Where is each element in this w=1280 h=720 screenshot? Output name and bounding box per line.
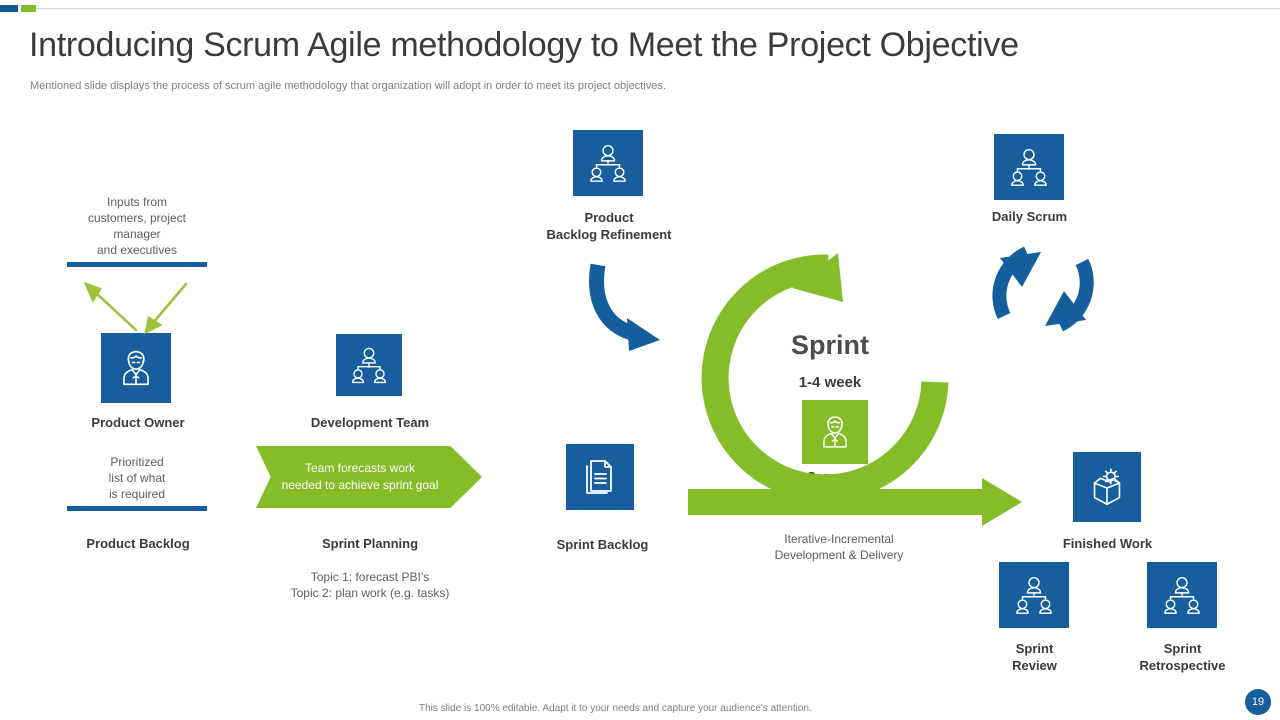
box-gear-icon	[1084, 464, 1130, 510]
inputs-note-line1: Inputs from	[62, 194, 212, 210]
topic-1: Topic 1: forecast PBI’s	[265, 569, 475, 585]
iterative-note: Iterative-Incremental Development & Deli…	[754, 531, 924, 563]
team-group-icon	[347, 345, 391, 385]
prioritized-underline	[67, 506, 207, 511]
sprint-planning-banner[interactable]: Team forecasts work needed to achieve sp…	[256, 446, 482, 508]
sprint-planning-topics: Topic 1: forecast PBI’s Topic 2: plan wo…	[265, 569, 475, 601]
prioritized-note-line2: list of what	[62, 470, 212, 486]
inputs-underline	[67, 262, 207, 267]
daily-scrum-cycle-arrows	[999, 253, 1086, 325]
sprint-backlog-label: Sprint Backlog	[520, 536, 685, 553]
business-person-icon	[113, 345, 159, 391]
sprint-duration: 1-4 week	[745, 374, 915, 391]
development-team-label: Development Team	[285, 414, 455, 431]
sprint-retrospective-icon-tile[interactable]	[1147, 562, 1217, 628]
page-title: Introducing Scrum Agile methodology to M…	[29, 26, 1019, 65]
inputs-note-line2: customers, project	[62, 210, 212, 226]
product-owner-label: Product Owner	[58, 414, 218, 431]
top-accent-bar-green	[21, 5, 36, 12]
iterative-line1: Iterative-Incremental	[754, 531, 924, 547]
documents-icon	[579, 455, 621, 499]
daily-scrum-icon-tile[interactable]	[994, 134, 1064, 200]
topic-2: Topic 2: plan work (e.g. tasks)	[265, 585, 475, 601]
scrum-master-label: Scrum Master	[765, 469, 935, 484]
sprint-review-label: Sprint Review	[957, 640, 1112, 674]
delivery-arrow	[688, 478, 1022, 526]
scrum-master-icon-tile[interactable]	[802, 400, 868, 464]
pbr-line1: Product	[524, 209, 694, 226]
inputs-note: Inputs from customers, project manager a…	[62, 194, 212, 258]
footer-note: This slide is 100% editable. Adapt it to…	[419, 703, 812, 714]
daily-scrum-label: Daily Scrum	[952, 208, 1107, 225]
top-accent-bar-blue	[0, 5, 18, 12]
prioritized-note-line1: Prioritized	[62, 454, 212, 470]
sprint-retrospective-label: Sprint Retrospective	[1105, 640, 1260, 674]
page-number-badge: 19	[1245, 689, 1271, 715]
refinement-curved-arrow	[597, 265, 660, 351]
sprint-review-line2: Review	[957, 657, 1112, 674]
product-backlog-refinement-label: Product Backlog Refinement	[524, 209, 694, 243]
inputs-note-line4: and executives	[62, 242, 212, 258]
pbr-line2: Backlog Refinement	[524, 226, 694, 243]
product-backlog-label: Product Backlog	[58, 535, 218, 552]
sprint-review-line1: Sprint	[957, 640, 1112, 657]
arrow-overlay	[0, 0, 1280, 720]
sprint-backlog-icon-tile[interactable]	[566, 444, 634, 510]
team-group-icon	[1159, 574, 1205, 616]
sprint-planning-label: Sprint Planning	[285, 535, 455, 552]
finished-work-icon-tile[interactable]	[1073, 452, 1141, 522]
sprint-retro-line2: Retrospective	[1105, 657, 1260, 674]
team-group-icon	[1006, 146, 1052, 188]
chevron-line1: Team forecasts work	[282, 460, 439, 477]
sprint-retro-line1: Sprint	[1105, 640, 1260, 657]
finished-work-label: Finished Work	[1030, 535, 1185, 552]
top-divider-rule	[36, 8, 1280, 9]
product-owner-icon-tile[interactable]	[101, 333, 171, 403]
input-arrow-left	[86, 284, 136, 330]
product-backlog-refinement-icon-tile[interactable]	[573, 130, 643, 196]
sprint-review-icon-tile[interactable]	[999, 562, 1069, 628]
chevron-line2: needed to achieve sprint goal	[282, 477, 439, 494]
daily-scrum-arrowheads	[1000, 252, 1086, 326]
slide-canvas: Introducing Scrum Agile methodology to M…	[0, 0, 1280, 720]
prioritized-note-line3: is required	[62, 486, 212, 502]
team-group-icon	[1011, 574, 1057, 616]
iterative-line2: Development & Delivery	[754, 547, 924, 563]
inputs-note-line3: manager	[62, 226, 212, 242]
prioritized-note: Prioritized list of what is required	[62, 454, 212, 502]
page-subtitle: Mentioned slide displays the process of …	[30, 80, 666, 92]
team-group-icon	[585, 142, 631, 184]
development-team-icon-tile[interactable]	[336, 334, 402, 396]
input-arrow-right	[146, 284, 186, 332]
business-person-icon	[814, 411, 856, 453]
sprint-title: Sprint	[745, 330, 915, 361]
